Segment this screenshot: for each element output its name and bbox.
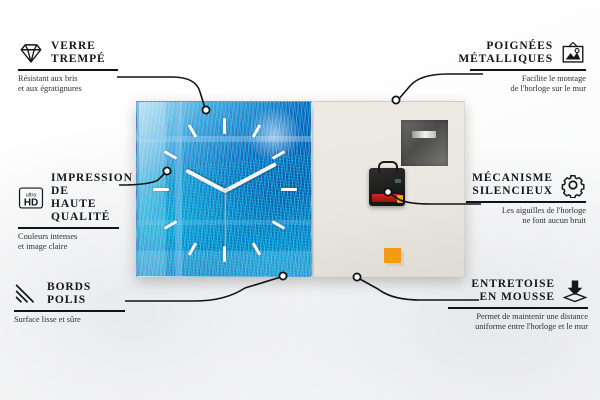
callout-rule	[14, 310, 125, 312]
callout-rule	[18, 227, 119, 229]
callout-title-line1: MÉCANISME	[472, 172, 553, 185]
clock-marker	[281, 188, 297, 191]
callout-title-line2: HAUTE QUALITÉ	[51, 198, 133, 224]
clock-second-hand	[224, 191, 225, 247]
foam-spacer	[384, 248, 401, 263]
callout-title-line1: BORDS	[47, 281, 91, 294]
callout-title-line2: EN MOUSSE	[471, 291, 555, 304]
callout-entretoise-en-mousse: ENTRETOISE EN MOUSSE Permet de maintenir…	[448, 278, 588, 332]
diamond-icon	[18, 40, 44, 66]
hanging-frame-icon	[560, 40, 586, 66]
callout-poignees-metalliques: POIGNÉES MÉTALLIQUES Facilite le montage…	[470, 40, 586, 94]
callout-bords-polis: BORDS POLIS Surface lisse et sûre	[14, 281, 130, 325]
quartz-mechanism	[369, 168, 405, 206]
callout-desc-line1: Permet de maintenir une distance	[448, 312, 588, 322]
leader-line-bords-polis	[125, 277, 281, 301]
callout-header: BORDS POLIS	[14, 281, 130, 307]
clock-marker	[223, 118, 226, 134]
metal-hanger-plate	[401, 120, 448, 166]
ultra-hd-icon-main-text: HD	[24, 198, 38, 209]
callout-title-line1: ENTRETOISE	[471, 278, 555, 291]
clock-marker	[153, 188, 169, 191]
glass-clock-face	[136, 101, 312, 277]
glass-grid-vertical	[175, 102, 182, 276]
callout-mecanisme-silencieux: MÉCANISME SILENCIEUX Les aiguilles de l'…	[466, 172, 586, 226]
callout-rule	[470, 69, 586, 71]
hanger-slot	[412, 131, 436, 138]
callout-rule	[18, 69, 118, 71]
battery	[372, 194, 399, 202]
battery-plus-terminal	[397, 195, 403, 203]
callout-desc-line1: Facilite le montage	[470, 74, 586, 84]
callout-verre-trempe: VERRE TREMPÉ Résistant aux bris et aux é…	[18, 40, 128, 94]
clock-marker	[223, 246, 226, 262]
callout-header: ultra HD IMPRESSION DE HAUTE QUALITÉ	[18, 172, 130, 224]
callout-desc-line1: Résistant aux bris	[18, 74, 128, 84]
ultra-hd-icon: ultra HD	[18, 185, 44, 211]
callout-header: VERRE TREMPÉ	[18, 40, 128, 66]
callout-title-line1: IMPRESSION DE	[51, 172, 133, 198]
mechanism-label	[395, 179, 401, 183]
callout-desc-line1: Surface lisse et sûre	[14, 315, 130, 325]
callout-rule	[466, 201, 586, 203]
clock-back-panel	[313, 101, 465, 277]
clock-center-hub	[223, 188, 228, 193]
callout-title-line2: SILENCIEUX	[472, 185, 553, 198]
callout-rule	[448, 307, 588, 309]
callout-header: ENTRETOISE EN MOUSSE	[448, 278, 588, 304]
gear-icon	[560, 172, 586, 198]
callout-desc-line2: ne font aucun bruit	[466, 216, 586, 226]
polished-edge-icon	[14, 281, 40, 307]
infographic-canvas: VERRE TREMPÉ Résistant aux bris et aux é…	[0, 0, 600, 400]
callout-title-line2: TREMPÉ	[51, 53, 106, 66]
callout-title-line2: MÉTALLIQUES	[458, 53, 553, 66]
callout-desc-line1: Les aiguilles de l'horloge	[466, 206, 586, 216]
callout-desc-line2: et image claire	[18, 242, 130, 252]
callout-title-line1: VERRE	[51, 40, 106, 53]
mechanism-hook-icon	[378, 161, 398, 173]
callout-desc-line2: uniforme entre l'horloge et le mur	[448, 322, 588, 332]
callout-desc-line1: Couleurs intenses	[18, 232, 130, 242]
callout-header: POIGNÉES MÉTALLIQUES	[470, 40, 586, 66]
callout-impression-haute-qualite: ultra HD IMPRESSION DE HAUTE QUALITÉ Cou…	[18, 172, 130, 252]
callout-desc-line2: et aux égratignures	[18, 84, 128, 94]
callout-title-line2: POLIS	[47, 294, 91, 307]
product-photo	[136, 101, 465, 277]
foam-spacer-icon	[562, 278, 588, 304]
callout-desc-line2: de l'horloge sur le mur	[470, 84, 586, 94]
callout-header: MÉCANISME SILENCIEUX	[466, 172, 586, 198]
callout-title-line1: POIGNÉES	[458, 40, 553, 53]
